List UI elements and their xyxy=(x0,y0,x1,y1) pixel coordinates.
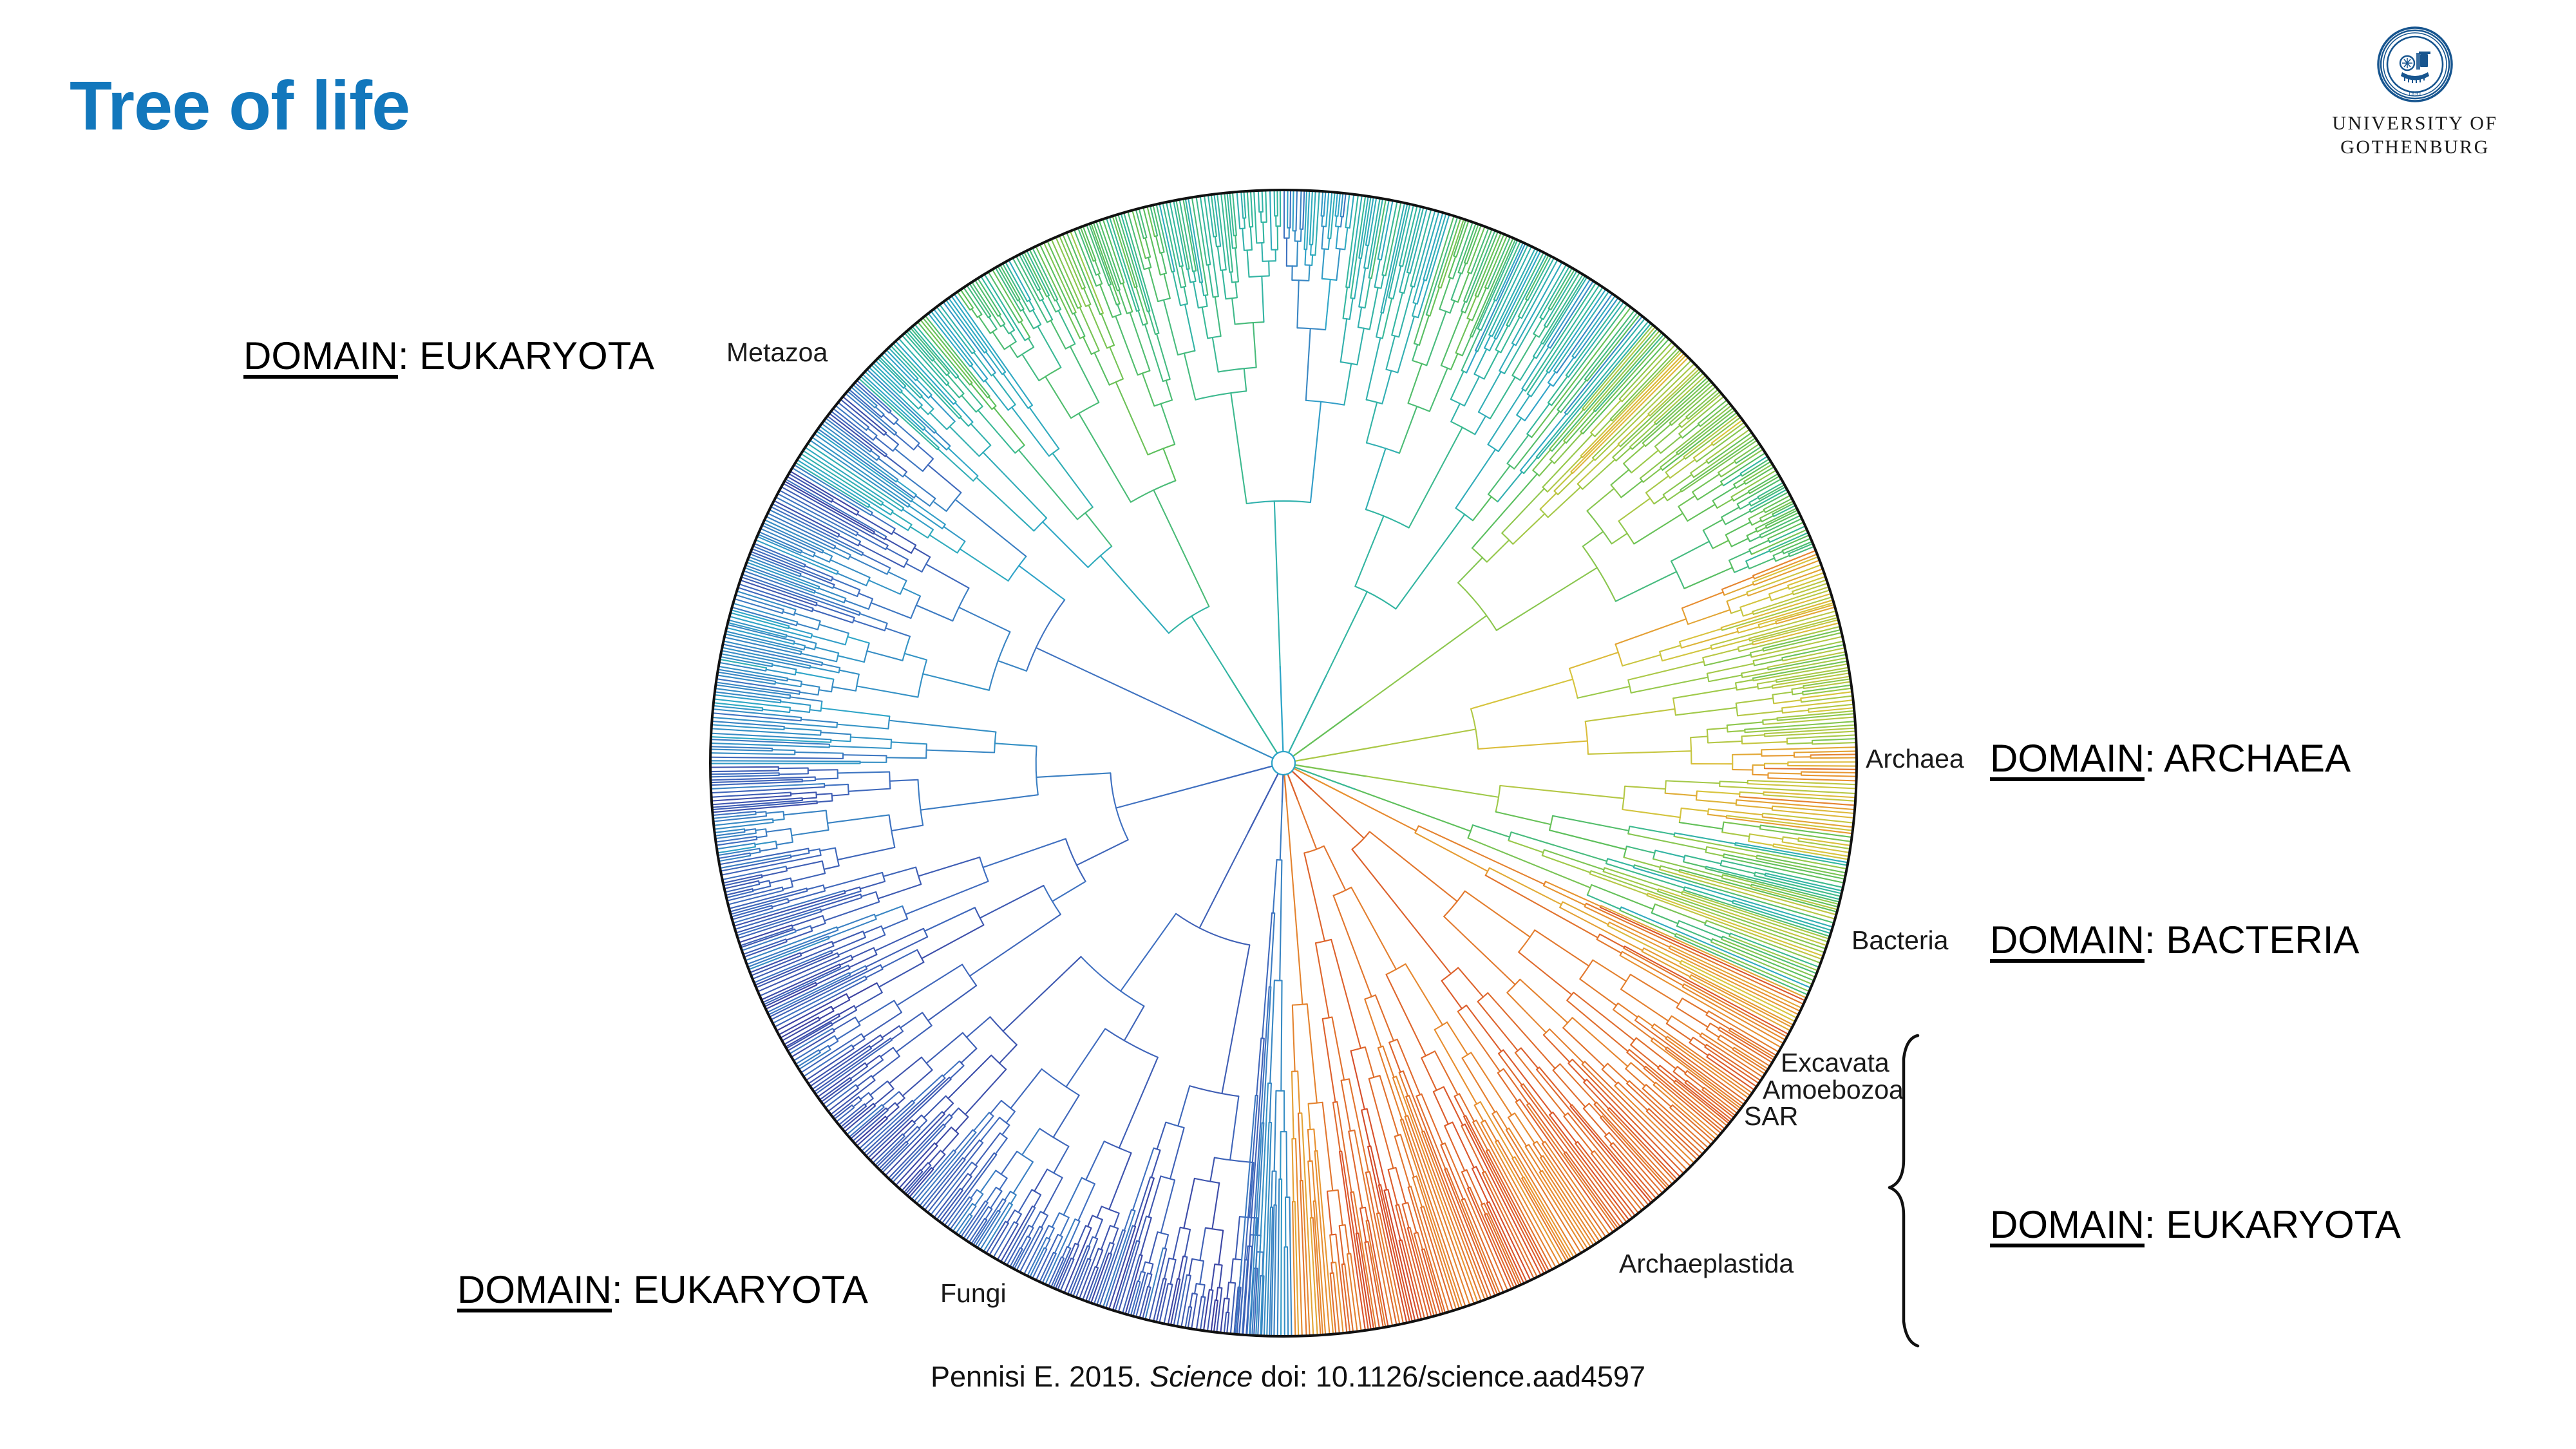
annotation-domain-bacteria: DOMAIN: BACTERIA xyxy=(1990,921,2359,960)
domain-keyword: DOMAIN xyxy=(1990,918,2145,961)
domain-value: : EUKARYOTA xyxy=(2145,1203,2401,1246)
tree-of-life-figure xyxy=(644,122,1932,1404)
caption-doi: doi: 10.1126/science.aad4597 xyxy=(1253,1360,1645,1393)
taxon-label-bacteria: Bacteria xyxy=(1851,927,1948,954)
university-wordmark: UNIVERSITY OF GOTHENBURG xyxy=(2318,112,2512,159)
annotation-domain-archaea: DOMAIN: ARCHAEA xyxy=(1990,739,2351,778)
taxon-label-metazoa: Metazoa xyxy=(726,339,828,366)
wordmark-line-2: GOTHENBURG xyxy=(2318,136,2512,160)
domain-value: : BACTERIA xyxy=(2145,918,2359,961)
circular-dendrogram xyxy=(644,122,1932,1404)
caption-author-year: Pennisi E. 2015. xyxy=(931,1360,1150,1393)
page-title: Tree of life xyxy=(70,71,410,140)
tree-branches xyxy=(712,191,1855,1335)
domain-keyword: DOMAIN xyxy=(457,1268,612,1311)
svg-text:1891: 1891 xyxy=(2408,90,2422,97)
taxon-label-sar: SAR xyxy=(1744,1103,1798,1130)
domain-value: : EUKARYOTA xyxy=(612,1268,868,1311)
domain-value: : EUKARYOTA xyxy=(398,334,654,377)
domain-keyword: DOMAIN xyxy=(1990,737,2145,780)
figure-caption: Pennisi E. 2015. Science doi: 10.1126/sc… xyxy=(0,1360,2576,1394)
university-seal-icon: 1891 xyxy=(2376,26,2454,103)
taxon-label-archaea: Archaea xyxy=(1866,746,1964,773)
domain-value: : ARCHAEA xyxy=(2145,737,2351,780)
annotation-domain-eukaryota-top-left: DOMAIN: EUKARYOTA xyxy=(243,337,654,375)
taxon-label-archaeplastida: Archaeplastida xyxy=(1619,1251,1794,1278)
university-logo: 1891 UNIVERSITY OF GOTHENBURG xyxy=(2318,26,2512,159)
annotation-domain-eukaryota-right: DOMAIN: EUKARYOTA xyxy=(1990,1206,2401,1244)
wordmark-line-1: UNIVERSITY OF xyxy=(2318,112,2512,136)
domain-keyword: DOMAIN xyxy=(243,334,398,377)
annotation-domain-eukaryota-bottom-left: DOMAIN: EUKARYOTA xyxy=(457,1271,868,1309)
eukaryota-brace xyxy=(1810,1030,1926,1352)
domain-keyword: DOMAIN xyxy=(1990,1203,2145,1246)
caption-journal: Science xyxy=(1150,1360,1253,1393)
taxon-label-fungi: Fungi xyxy=(940,1280,1007,1307)
